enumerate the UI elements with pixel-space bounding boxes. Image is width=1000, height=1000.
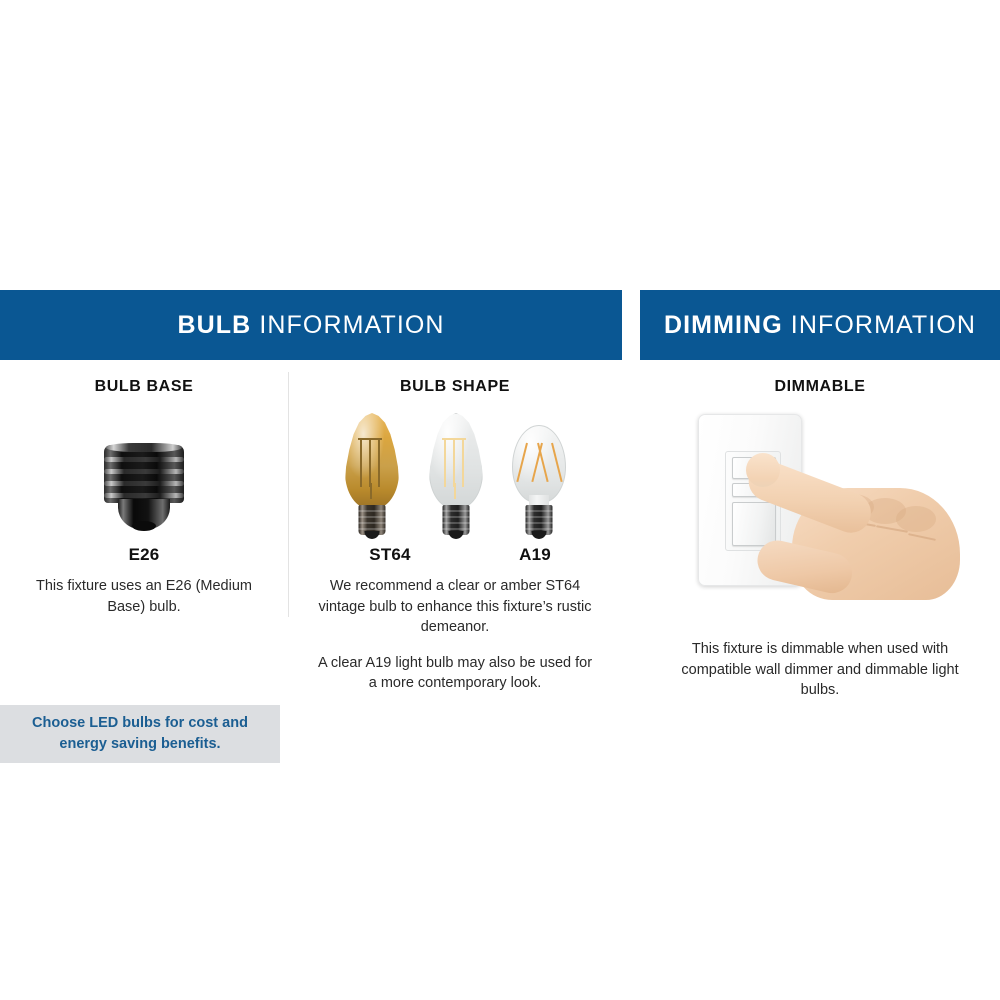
e26-thread-ring — [104, 457, 184, 462]
bulb-base-description: This fixture uses an E26 (Medium Base) b… — [34, 576, 254, 617]
bulb-shape-description-primary: We recommend a clear or amber ST64 vinta… — [314, 576, 596, 638]
bulb-screw-base — [359, 505, 386, 535]
bulb-base-caption: E26 — [0, 545, 288, 565]
bulb-columns: BULB BASE — [0, 378, 622, 694]
bulb-information-body: BULB BASE — [0, 360, 622, 694]
screw-thread — [526, 510, 553, 512]
bulb-banner-bold-word: BULB — [177, 311, 251, 339]
filament-stem — [370, 483, 372, 499]
screw-thread — [359, 528, 386, 530]
hand-pressing-wall-dimmer-switch-photo — [650, 412, 990, 617]
screw-thread — [359, 510, 386, 512]
screw-thread — [443, 522, 470, 524]
dimming-banner-light-word: INFORMATION — [783, 311, 976, 339]
product-info-graphic: BULB INFORMATION BULB BASE — [0, 0, 1000, 1000]
led-bulb-recommendation-note: Choose LED bulbs for cost and energy sav… — [0, 705, 280, 763]
dimmable-description: This fixture is dimmable when used with … — [675, 639, 965, 701]
bulb-information-banner-text: BULB INFORMATION — [177, 311, 444, 340]
dimmable-heading: DIMMABLE — [640, 378, 1000, 400]
bulb-shape-caption-a19: A19 — [470, 545, 600, 565]
a19-clear-bulb — [509, 425, 569, 535]
dimming-information-banner: DIMMING INFORMATION — [640, 290, 1000, 360]
e26-bulb-base-photo — [98, 443, 190, 535]
bulb-information-panel: BULB INFORMATION BULB BASE — [0, 290, 622, 694]
bulb-shape-image-area — [288, 410, 622, 535]
screw-thread — [526, 528, 553, 530]
e26-thread-ring — [104, 469, 184, 474]
bulb-shape-photo-group — [341, 413, 569, 535]
info-panels-container: BULB INFORMATION BULB BASE — [0, 290, 1000, 715]
filament — [444, 439, 446, 487]
led-bulb-recommendation-text: Choose LED bulbs for cost and energy sav… — [20, 713, 260, 754]
screw-thread — [443, 516, 470, 518]
st64-clear-bulb — [425, 413, 487, 535]
bulb-shape-caption-st64: ST64 — [310, 545, 470, 565]
e26-thread-ring — [104, 481, 184, 486]
hand-illustration — [746, 450, 972, 610]
filament-stem — [454, 483, 456, 499]
screw-thread — [526, 522, 553, 524]
hand-knuckle — [896, 506, 936, 532]
e26-thread-ring — [104, 493, 184, 498]
bulb-base-heading: BULB BASE — [0, 378, 288, 400]
screw-thread — [443, 510, 470, 512]
st64-clear-glass — [429, 413, 483, 509]
dimming-information-panel: DIMMING INFORMATION DIMMABLE — [640, 290, 1000, 701]
screw-contact — [532, 531, 547, 539]
bulb-screw-base — [526, 505, 553, 535]
dimming-banner-bold-word: DIMMING — [664, 311, 783, 339]
st64-amber-bulb — [341, 413, 403, 535]
dimming-information-body: DIMMABLE — [640, 360, 1000, 701]
dimming-information-banner-text: DIMMING INFORMATION — [664, 311, 976, 340]
e26-base-contact — [132, 521, 156, 531]
bulb-banner-light-word: INFORMATION — [251, 311, 444, 339]
screw-thread — [443, 528, 470, 530]
bulb-base-image-area — [0, 410, 288, 535]
filament — [360, 439, 362, 487]
bulb-shape-heading: BULB SHAPE — [288, 378, 622, 400]
screw-thread — [359, 516, 386, 518]
st64-amber-glass — [345, 413, 399, 509]
screw-contact — [449, 531, 464, 539]
screw-contact — [365, 531, 380, 539]
bulb-shape-captions: ST64 A19 — [288, 545, 622, 565]
screw-thread — [526, 516, 553, 518]
bulb-information-banner: BULB INFORMATION — [0, 290, 622, 360]
bulb-base-column: BULB BASE — [0, 378, 288, 694]
filament — [453, 439, 455, 487]
bulb-shape-column: BULB SHAPE — [288, 378, 622, 694]
filament — [378, 439, 380, 487]
e26-base-top-rim — [106, 443, 182, 452]
filament — [369, 439, 371, 487]
filament — [462, 439, 464, 487]
bulb-shape-description-secondary: A clear A19 light bulb may also be used … — [314, 653, 596, 694]
screw-thread — [359, 522, 386, 524]
bulb-screw-base — [443, 505, 470, 535]
